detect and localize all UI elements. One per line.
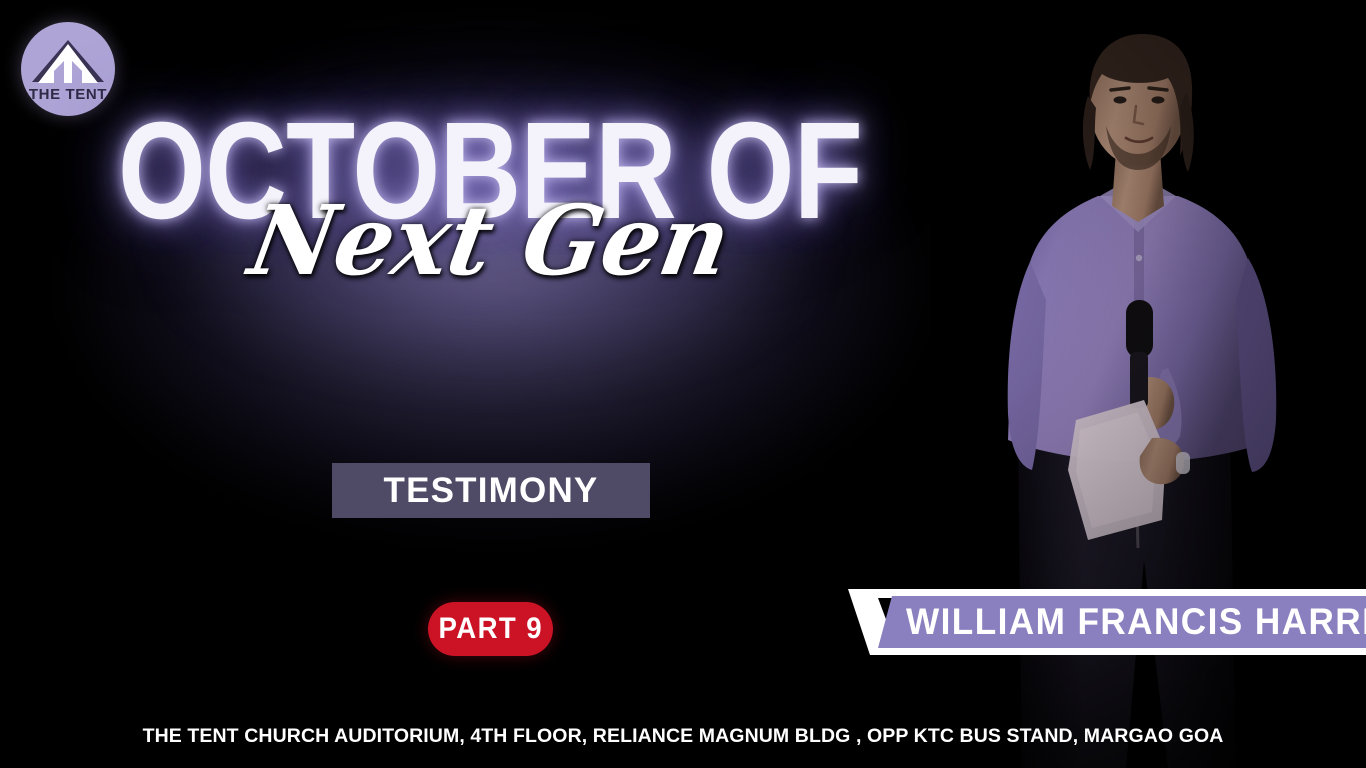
testimony-banner: TESTIMONY: [332, 463, 650, 518]
logo-text: THE TENT: [29, 86, 107, 103]
tent-mark-icon: THE TENT: [26, 27, 110, 111]
title-script: Next Gen: [11, 193, 969, 289]
speaker-name-banner: WILLIAM FRANCIS HARRIS: [848, 589, 1366, 655]
part-badge: PART 9: [428, 602, 553, 656]
the-tent-logo[interactable]: THE TENT: [21, 22, 115, 116]
venue-address: THE TENT CHURCH AUDITORIUM, 4TH FLOOR, R…: [0, 725, 1366, 748]
part-badge-label: PART 9: [438, 612, 542, 646]
testimony-label: TESTIMONY: [384, 471, 599, 511]
title-block: OCTOBER OF Next Gen: [0, 104, 980, 289]
poster-canvas: THE TENT OCTOBER OF Next Gen TESTIMONY P…: [0, 0, 1366, 768]
speaker-name: WILLIAM FRANCIS HARRIS: [906, 596, 1366, 648]
